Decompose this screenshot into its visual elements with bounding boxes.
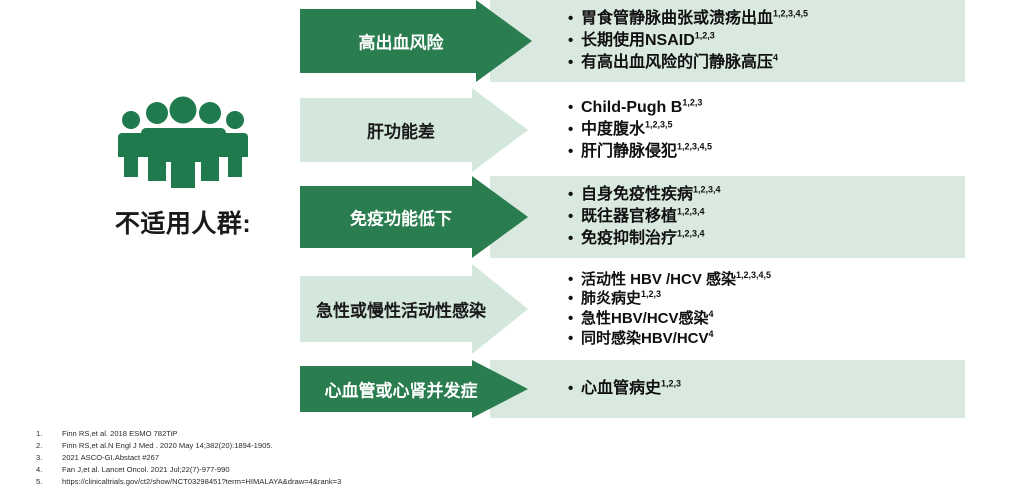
bullet-dot: •: [568, 209, 581, 225]
row-arrow: 肝功能差: [300, 88, 528, 172]
bullet-dot: •: [568, 311, 581, 327]
row-panel: [490, 360, 965, 418]
criteria-row: 免疫功能低下 • 自身免疫性疾病1,2,3,4 • 既往器官移植1,2,3,4 …: [300, 176, 965, 258]
reference-text: 2021 ASCO-GI.Abstact #267: [62, 452, 636, 464]
reference-item: 5. https://clinicaltrials.gov/ct2/show/N…: [36, 476, 636, 488]
row-panel: [490, 176, 965, 258]
list-item: • 胃食管静脉曲张或溃疡出血1,2,3,4,5: [568, 11, 808, 27]
list-item: • 长期使用NSAID1,2,3: [568, 33, 808, 49]
row-bullets: • Child-Pugh B1,2,3 • 中度腹水1,2,3,5 • 肝门静脉…: [568, 88, 712, 172]
reference-item: 3. 2021 ASCO-GI.Abstact #267: [36, 452, 636, 464]
page-title: 不适用人群:: [115, 204, 251, 240]
row-label: 肝功能差: [300, 118, 502, 143]
list-item: • 急性HBV/HCV感染4: [568, 311, 771, 327]
criteria-row: 高出血风险 • 胃食管静脉曲张或溃疡出血1,2,3,4,5 • 长期使用NSAI…: [300, 0, 965, 82]
list-item: • 既往器官移植1,2,3,4: [568, 209, 721, 225]
reference-text: Finn RS,et al. 2018 ESMO 782TiP: [62, 428, 636, 440]
list-item: • Child-Pugh B1,2,3: [568, 100, 712, 116]
bullet-dot: •: [568, 33, 581, 49]
audience-block: 不适用人群:: [78, 96, 288, 240]
criteria-row: 心血管或心肾并发症 • 心血管病史1,2,3: [300, 360, 965, 418]
slide-root: 不适用人群: 高出血风险 • 胃食管静脉曲张或溃疡出血1,2,3,4,5 • 长…: [0, 0, 1034, 486]
row-bullets: • 胃食管静脉曲张或溃疡出血1,2,3,4,5 • 长期使用NSAID1,2,3…: [568, 0, 808, 82]
reference-number: 4.: [36, 464, 62, 476]
list-item: • 心血管病史1,2,3: [568, 381, 681, 397]
group-of-people-icon: [117, 96, 249, 188]
bullet-dot: •: [568, 381, 581, 397]
row-label: 免疫功能低下: [300, 205, 502, 230]
reference-text: Fan J,et al. Lancet Oncol. 2021 Jul;22(7…: [62, 464, 636, 476]
reference-number: 1.: [36, 428, 62, 440]
list-item: • 肺炎病史1,2,3: [568, 291, 771, 307]
reference-item: 1. Finn RS,et al. 2018 ESMO 782TiP: [36, 428, 636, 440]
row-arrow: 心血管或心肾并发症: [300, 360, 528, 418]
list-item: • 自身免疫性疾病1,2,3,4: [568, 187, 721, 203]
reference-number: 5.: [36, 476, 62, 488]
row-label: 急性或慢性活动性感染: [300, 297, 502, 322]
bullet-dot: •: [568, 231, 581, 247]
row-bullets: • 自身免疫性疾病1,2,3,4 • 既往器官移植1,2,3,4 • 免疫抑制治…: [568, 176, 721, 258]
bullet-dot: •: [568, 100, 581, 116]
criteria-row: 肝功能差 • Child-Pugh B1,2,3 • 中度腹水1,2,3,5 •…: [300, 88, 965, 172]
reference-number: 3.: [36, 452, 62, 464]
reference-link[interactable]: https://clinicaltrials.gov/ct2/show/NCT0…: [62, 476, 636, 488]
row-bullets: • 活动性 HBV /HCV 感染1,2,3,4,5 • 肺炎病史1,2,3 •…: [568, 262, 771, 356]
bullet-dot: •: [568, 187, 581, 203]
bullet-dot: •: [568, 55, 581, 71]
row-bullets: • 心血管病史1,2,3: [568, 360, 681, 418]
bullet-dot: •: [568, 331, 581, 347]
row-label: 高出血风险: [300, 29, 502, 54]
reference-item: 2. Finn RS,et al.N Engl J Med . 2020 May…: [36, 440, 636, 452]
row-arrow: 高出血风险: [300, 0, 532, 82]
list-item: • 中度腹水1,2,3,5: [568, 122, 712, 138]
bullet-dot: •: [568, 11, 581, 27]
criteria-row: 急性或慢性活动性感染 • 活动性 HBV /HCV 感染1,2,3,4,5 • …: [300, 262, 965, 356]
reference-item: 4. Fan J,et al. Lancet Oncol. 2021 Jul;2…: [36, 464, 636, 476]
list-item: • 同时感染HBV/HCV4: [568, 331, 771, 347]
bullet-dot: •: [568, 291, 581, 307]
reference-number: 2.: [36, 440, 62, 452]
row-panel: [490, 88, 965, 172]
references-list: 1. Finn RS,et al. 2018 ESMO 782TiP 2. Fi…: [36, 428, 636, 488]
list-item: • 有高出血风险的门静脉高压4: [568, 55, 808, 71]
bullet-dot: •: [568, 122, 581, 138]
reference-text: Finn RS,et al.N Engl J Med . 2020 May 14…: [62, 440, 636, 452]
row-arrow: 免疫功能低下: [300, 176, 528, 258]
list-item: • 活动性 HBV /HCV 感染1,2,3,4,5: [568, 272, 771, 288]
list-item: • 免疫抑制治疗1,2,3,4: [568, 231, 721, 247]
bullet-dot: •: [568, 144, 581, 160]
row-label: 心血管或心肾并发症: [300, 377, 502, 402]
row-arrow: 急性或慢性活动性感染: [300, 262, 528, 356]
bullet-dot: •: [568, 272, 581, 288]
list-item: • 肝门静脉侵犯1,2,3,4,5: [568, 144, 712, 160]
